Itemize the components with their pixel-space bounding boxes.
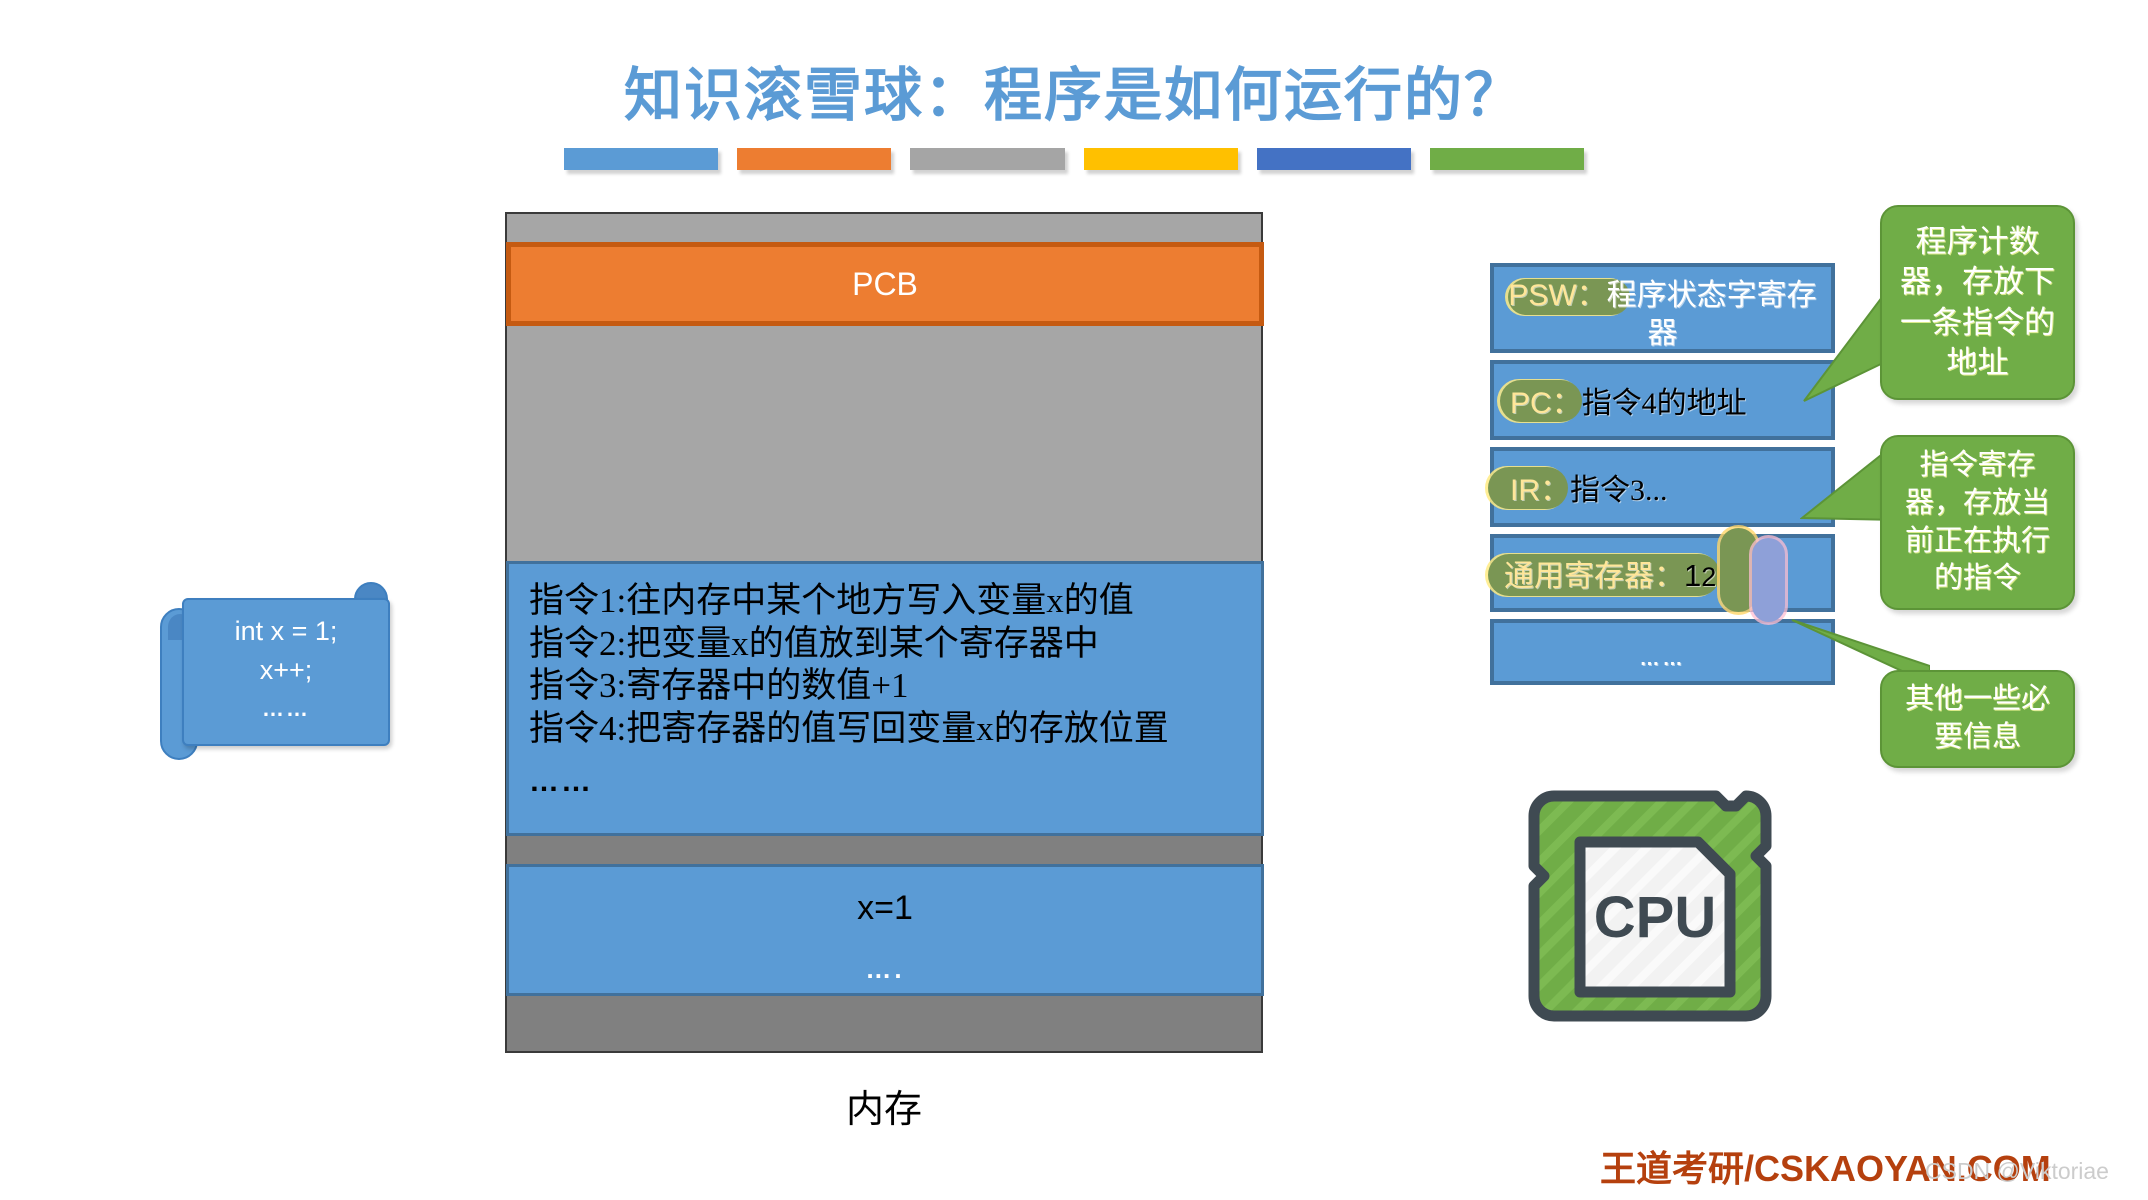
register-row-pc: PC：指令4的地址 (1490, 360, 1835, 440)
register-row-general-purpose: 通用寄存器：12 (1490, 534, 1835, 612)
code-ellipsis: …… (262, 696, 310, 722)
register-psw-tag: PSW： (1508, 279, 1606, 312)
register-row-other: …… (1490, 619, 1835, 685)
code-line-1: int x = 1; (235, 612, 338, 651)
register-other-value: …… (1494, 623, 1831, 672)
accent-bar-yellow (1084, 148, 1238, 170)
register-gp-value1: 1 (1684, 558, 1701, 593)
accent-bar-blue (564, 148, 718, 170)
accent-bar-navy (1257, 148, 1411, 170)
memory-instruction-4: 指令4:把寄存器的值写回变量x的存放位置 (529, 708, 1261, 751)
register-row-psw: PSW：程序状态字寄存器 (1490, 263, 1835, 353)
register-row-ir: IR：指令3... (1490, 447, 1835, 527)
register-gp-text: 通用寄存器：12 (1494, 538, 1831, 596)
register-pc-text: PC：指令4的地址 (1494, 364, 1831, 423)
register-ir-text: IR：指令3... (1494, 451, 1831, 510)
page-title: 知识滚雪球：程序是如何运行的？ (0, 48, 2148, 132)
callout-pc: 程序计数器，存放下一条指令的地址 (1880, 205, 2075, 400)
register-ir-tag: IR： (1510, 474, 1570, 507)
memory-instruction-region: 指令1:往内存中某个地方写入变量x的值 指令2:把变量x的值放到某个寄存器中 指… (506, 561, 1264, 836)
memory-divider-strip-upper (507, 836, 1261, 864)
memory-instruction-ellipsis: …… (529, 765, 1261, 799)
accent-bar-gray (910, 148, 1064, 170)
memory-instruction-1: 指令1:往内存中某个地方写入变量x的值 (529, 580, 1261, 623)
memory-caption: 内存 (505, 1078, 1263, 1133)
source-code-scroll: int x = 1; x++; …… (160, 590, 390, 760)
csdn-watermark: CSDN @Viktoriae (1925, 1158, 2109, 1185)
register-pc-tag: PC： (1510, 387, 1582, 420)
memory-data-region: x=1 …. (506, 864, 1264, 996)
cpu-icon-label: CPU (1594, 885, 1716, 950)
accent-bar-orange (737, 148, 891, 170)
slide-canvas: 知识滚雪球：程序是如何运行的？ int x = 1; x++; …… PCB 指… (0, 0, 2148, 1200)
cpu-register-panel: PSW：程序状态字寄存器 PC：指令4的地址 IR：指令3... 通用寄存器：1… (1490, 263, 1835, 692)
callout-ir: 指令寄存器，存放当前正在执行的指令 (1880, 435, 2075, 610)
register-ir-value: 指令3... (1570, 474, 1668, 507)
memory-diagram: PCB 指令1:往内存中某个地方写入变量x的值 指令2:把变量x的值放到某个寄存… (505, 212, 1263, 1053)
code-line-2: x++; (260, 651, 313, 690)
register-psw-value: 程序状态字寄存器 (1607, 279, 1817, 350)
cpu-chip-icon: CPU (1520, 782, 1790, 1054)
register-gp-value2: 2 (1701, 562, 1716, 592)
memory-free-region-lower (507, 996, 1261, 1051)
accent-bar-green (1430, 148, 1584, 170)
memory-data-ellipsis: …. (865, 954, 904, 985)
memory-instruction-3: 指令3:寄存器中的数值+1 (529, 665, 1261, 708)
memory-data-value: x=1 (857, 889, 913, 928)
register-gp-tag: 通用寄存器： (1504, 560, 1684, 593)
accent-bar-strip (564, 148, 1584, 170)
memory-pcb-label: PCB (852, 266, 918, 303)
memory-instruction-2: 指令2:把变量x的值放到某个寄存器中 (529, 623, 1261, 666)
memory-pcb-block: PCB (506, 242, 1264, 326)
register-psw-text: PSW：程序状态字寄存器 (1494, 267, 1831, 352)
memory-free-region-upper (507, 326, 1261, 561)
scroll-body: int x = 1; x++; …… (182, 598, 390, 746)
register-pc-value: 指令4的地址 (1582, 387, 1747, 420)
callout-other: 其他一些必要信息 (1880, 670, 2075, 768)
